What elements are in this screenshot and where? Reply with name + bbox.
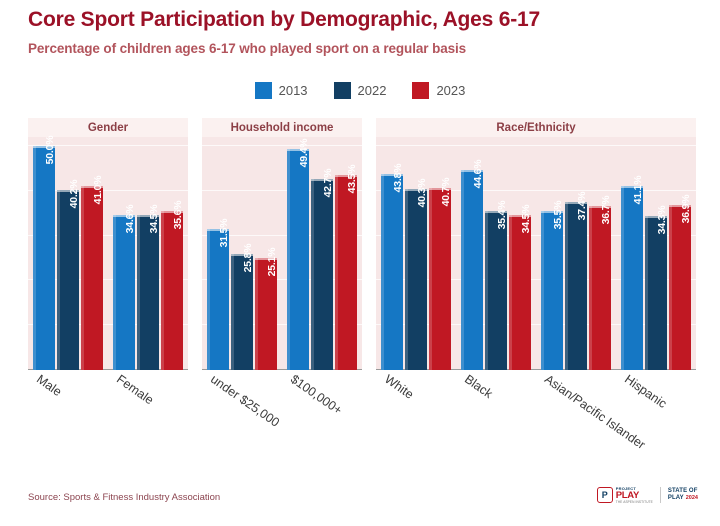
bar-value-label: 41.0% bbox=[92, 176, 104, 205]
bar-2013-under-25-000[interactable]: 31.5% bbox=[207, 229, 229, 370]
bar-group-male: 50.0%40.2%41.0% bbox=[28, 118, 108, 370]
legend-item-2013[interactable]: 2013 bbox=[255, 82, 308, 99]
bar-highlight-edge bbox=[33, 146, 36, 370]
bar-highlight-edge bbox=[57, 190, 60, 370]
plot-area: Gender50.0%40.2%41.0%34.6%34.5%35.6%Hous… bbox=[28, 118, 696, 370]
bar-highlight-edge bbox=[231, 254, 234, 370]
bar-value-label: 40.7% bbox=[440, 177, 452, 206]
bar-group--100-000-: 49.4%42.7%43.5% bbox=[282, 118, 362, 370]
state-of-play-line1: STATE OF bbox=[668, 488, 698, 495]
bar-value-label: 42.7% bbox=[322, 168, 334, 197]
project-play-logo: P PROJECT PLAY THE ASPEN INSTITUTE bbox=[597, 487, 653, 504]
bar-2022-asian-pacific-islander[interactable]: 37.4% bbox=[565, 202, 587, 370]
bar-value-label: 31.5% bbox=[218, 218, 230, 247]
bar-highlight-edge bbox=[429, 188, 432, 370]
bar-2013-hispanic[interactable]: 41.1% bbox=[621, 186, 643, 370]
bar-value-label: 50.0% bbox=[44, 136, 56, 165]
bar-group-under-25-000: 31.5%25.8%25.1% bbox=[202, 118, 282, 370]
x-axis-labels: MaleFemaleunder $25,000$100,000+WhiteBla… bbox=[28, 372, 696, 482]
bar-value-label: 36.9% bbox=[680, 194, 692, 223]
bar-2022-under-25-000[interactable]: 25.8% bbox=[231, 254, 253, 370]
state-of-play-line2: PLAY bbox=[668, 495, 684, 502]
bar-highlight-edge bbox=[287, 149, 290, 370]
bar-group-female: 34.6%34.5%35.6% bbox=[108, 118, 188, 370]
bar-value-label: 40.3% bbox=[416, 179, 428, 208]
bar-2023-asian-pacific-islander[interactable]: 36.7% bbox=[589, 206, 611, 370]
bar-highlight-edge bbox=[621, 186, 624, 370]
bar-group-asian-pacific-islander: 35.5%37.4%36.7% bbox=[536, 118, 616, 370]
x-axis-label-under-25-000: under $25,000 bbox=[208, 372, 282, 430]
bar-value-label: 37.4% bbox=[576, 192, 588, 221]
bar-group-white: 43.8%40.3%40.7% bbox=[376, 118, 456, 370]
x-axis-label-black: Black bbox=[462, 372, 495, 401]
bar-value-label: 44.6% bbox=[472, 160, 484, 189]
bar-highlight-edge bbox=[137, 215, 140, 370]
bar-2023-female[interactable]: 35.6% bbox=[161, 211, 183, 371]
bar-value-label: 40.2% bbox=[68, 179, 80, 208]
panel-household-income: Household income31.5%25.8%25.1%49.4%42.7… bbox=[202, 118, 362, 370]
state-of-play-year: 2024 bbox=[686, 495, 698, 501]
legend-swatch-2013 bbox=[255, 82, 272, 99]
bar-value-label: 43.8% bbox=[392, 163, 404, 192]
panel-race-ethnicity: Race/Ethnicity43.8%40.3%40.7%44.6%35.4%3… bbox=[376, 118, 696, 370]
page-title: Core Sport Participation by Demographic,… bbox=[28, 8, 540, 32]
bar-2023-hispanic[interactable]: 36.9% bbox=[669, 205, 691, 370]
state-of-play-logo: STATE OF PLAY 2024 bbox=[668, 488, 698, 502]
bar-value-label: 34.5% bbox=[520, 205, 532, 234]
bar-highlight-edge bbox=[405, 189, 408, 370]
bar-2022-hispanic[interactable]: 34.3% bbox=[645, 216, 667, 370]
x-axis-label-female: Female bbox=[114, 372, 156, 407]
source-note: Source: Sports & Fitness Industry Associ… bbox=[28, 492, 220, 503]
x-axis-label-hispanic: Hispanic bbox=[622, 372, 669, 411]
bar-value-label: 25.8% bbox=[242, 244, 254, 273]
bar-2013-black[interactable]: 44.6% bbox=[461, 170, 483, 370]
bar-value-label: 35.6% bbox=[172, 200, 184, 229]
bar-highlight-edge bbox=[645, 216, 648, 370]
bar-highlight-edge bbox=[485, 211, 488, 370]
chart-subtitle: Percentage of children ages 6-17 who pla… bbox=[28, 41, 466, 56]
legend-item-2022[interactable]: 2022 bbox=[334, 82, 387, 99]
bar-2013--100-000-[interactable]: 49.4% bbox=[287, 149, 309, 370]
bar-2013-male[interactable]: 50.0% bbox=[33, 146, 55, 370]
bar-highlight-edge bbox=[81, 186, 84, 370]
bar-2023--100-000-[interactable]: 43.5% bbox=[335, 175, 357, 370]
bar-value-label: 43.5% bbox=[346, 165, 358, 194]
bar-highlight-edge bbox=[541, 211, 544, 370]
bar-highlight-edge bbox=[207, 229, 210, 370]
bar-2013-white[interactable]: 43.8% bbox=[381, 174, 403, 370]
bar-2022-white[interactable]: 40.3% bbox=[405, 189, 427, 370]
legend-label-2013: 2013 bbox=[279, 83, 308, 98]
bar-groups: 50.0%40.2%41.0%34.6%34.5%35.6% bbox=[28, 118, 188, 370]
footer-logos: P PROJECT PLAY THE ASPEN INSTITUTE STATE… bbox=[597, 487, 698, 504]
bar-value-label: 36.7% bbox=[600, 195, 612, 224]
chart-legend: 201320222023 bbox=[0, 82, 720, 99]
bar-value-label: 49.4% bbox=[298, 138, 310, 167]
bar-value-label: 34.5% bbox=[148, 205, 160, 234]
bar-2023-white[interactable]: 40.7% bbox=[429, 188, 451, 370]
bar-highlight-edge bbox=[509, 215, 512, 370]
bar-2022-black[interactable]: 35.4% bbox=[485, 211, 507, 370]
bar-highlight-edge bbox=[311, 179, 314, 370]
x-axis-label-white: White bbox=[382, 372, 416, 402]
panel-gender: Gender50.0%40.2%41.0%34.6%34.5%35.6% bbox=[28, 118, 188, 370]
bar-group-hispanic: 41.1%34.3%36.9% bbox=[616, 118, 696, 370]
bar-value-label: 35.5% bbox=[552, 201, 564, 230]
bar-2013-female[interactable]: 34.6% bbox=[113, 215, 135, 370]
bar-highlight-edge bbox=[335, 175, 338, 370]
legend-label-2022: 2022 bbox=[358, 83, 387, 98]
legend-swatch-2023 bbox=[412, 82, 429, 99]
x-axis-label--100-000-: $100,000+ bbox=[288, 372, 345, 418]
bar-groups: 43.8%40.3%40.7%44.6%35.4%34.5%35.5%37.4%… bbox=[376, 118, 696, 370]
bar-2013-asian-pacific-islander[interactable]: 35.5% bbox=[541, 211, 563, 370]
bar-value-label: 34.3% bbox=[656, 206, 668, 235]
bar-highlight-edge bbox=[161, 211, 164, 371]
x-axis-label-male: Male bbox=[34, 372, 64, 399]
bar-groups: 31.5%25.8%25.1%49.4%42.7%43.5% bbox=[202, 118, 362, 370]
bar-highlight-edge bbox=[565, 202, 568, 370]
bar-group-black: 44.6%35.4%34.5% bbox=[456, 118, 536, 370]
bar-highlight-edge bbox=[669, 205, 672, 370]
bar-highlight-edge bbox=[589, 206, 592, 370]
bar-highlight-edge bbox=[255, 258, 258, 370]
bar-2023-black[interactable]: 34.5% bbox=[509, 215, 531, 370]
legend-swatch-2022 bbox=[334, 82, 351, 99]
project-play-sub-label: THE ASPEN INSTITUTE bbox=[616, 501, 653, 504]
bar-value-label: 25.1% bbox=[266, 247, 278, 276]
logo-divider bbox=[660, 487, 661, 503]
bar-2022-male[interactable]: 40.2% bbox=[57, 190, 79, 370]
bar-highlight-edge bbox=[113, 215, 116, 370]
bar-value-label: 41.1% bbox=[632, 175, 644, 204]
project-play-mark-icon: P bbox=[597, 487, 613, 503]
bar-2023-male[interactable]: 41.0% bbox=[81, 186, 103, 370]
legend-label-2023: 2023 bbox=[436, 83, 465, 98]
bar-2022-female[interactable]: 34.5% bbox=[137, 215, 159, 370]
bar-highlight-edge bbox=[381, 174, 384, 370]
bar-2023-under-25-000[interactable]: 25.1% bbox=[255, 258, 277, 370]
chart-root: Core Sport Participation by Demographic,… bbox=[0, 0, 720, 526]
bar-value-label: 35.4% bbox=[496, 201, 508, 230]
bar-value-label: 34.6% bbox=[124, 205, 136, 234]
bar-highlight-edge bbox=[461, 170, 464, 370]
legend-item-2023[interactable]: 2023 bbox=[412, 82, 465, 99]
bar-2022--100-000-[interactable]: 42.7% bbox=[311, 179, 333, 370]
